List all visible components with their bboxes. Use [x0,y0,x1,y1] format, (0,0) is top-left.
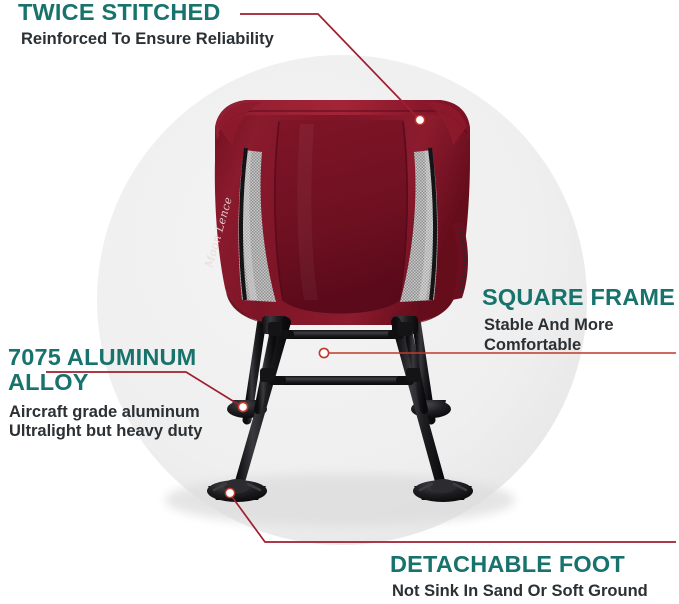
callout-detachable-foot: DETACHABLE FOOT Not Sink In Sand Or Soft… [390,552,648,602]
leader-detachable-foot [225,488,676,542]
callout-title: TWICE STITCHED [18,0,274,25]
callout-aluminum-alloy: 7075 ALUMINUM ALLOY Aircraft grade alumi… [8,345,202,441]
callout-subtitle: Stable And More Comfortable [484,316,675,354]
callout-square-frame: SQUARE FRAME Stable And More Comfortable [482,285,675,355]
callout-subtitle: Not Sink In Sand Or Soft Ground [392,582,648,601]
callout-title: DETACHABLE FOOT [390,552,648,577]
callout-subtitle: Aircraft grade aluminum Ultralight but h… [9,403,202,441]
infographic-canvas: Moon Lence [0,0,679,604]
callout-title: 7075 ALUMINUM ALLOY [8,345,202,396]
callout-subtitle: Reinforced To Ensure Reliability [21,30,274,49]
callout-twice-stitched: TWICE STITCHED Reinforced To Ensure Reli… [18,0,274,50]
callout-title: SQUARE FRAME [482,285,675,310]
